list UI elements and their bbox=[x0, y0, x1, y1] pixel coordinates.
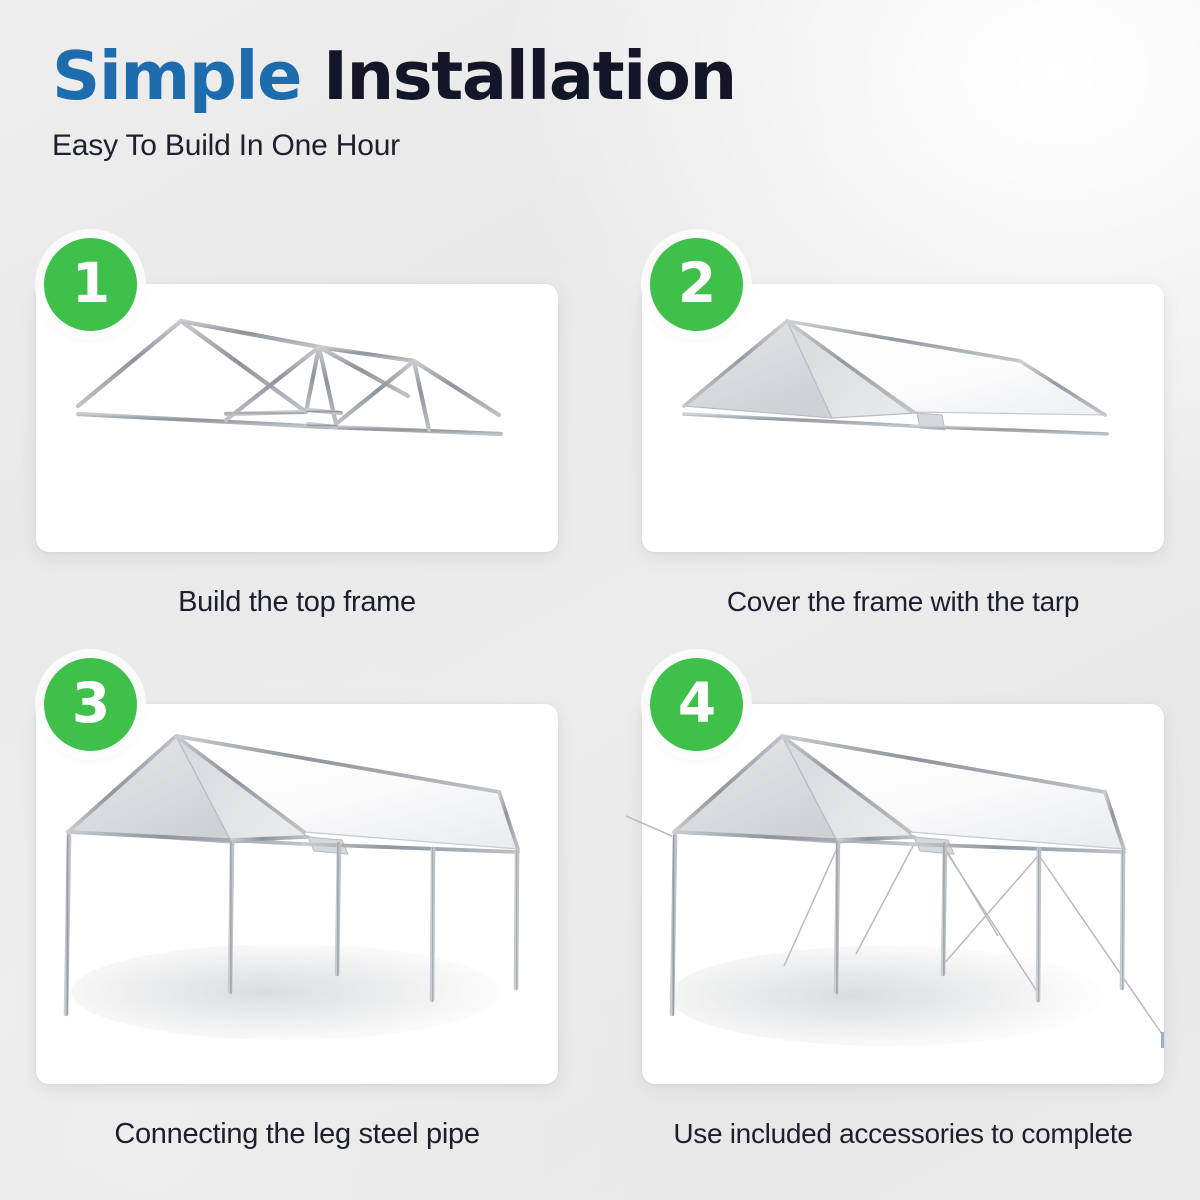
step-badge-3: 3 bbox=[44, 658, 137, 751]
step-number-1: 1 bbox=[72, 256, 109, 311]
step-caption-1: Build the top frame bbox=[36, 586, 558, 619]
step-card-2: 2 Cover the frame with the tarp bbox=[642, 284, 1164, 684]
title-word-installation: Installation bbox=[323, 37, 736, 115]
step-caption-3: Connecting the leg steel pipe bbox=[36, 1118, 558, 1151]
step-1-card-surface: 1 bbox=[36, 284, 558, 552]
steps-grid: 1 Build the top frame bbox=[0, 252, 1200, 1182]
carport-with-legs-illustration bbox=[36, 704, 558, 1084]
step-number-4: 4 bbox=[678, 676, 715, 731]
infographic-page: Simple Installation Easy To Build In One… bbox=[0, 0, 1200, 1200]
page-subtitle: Easy To Build In One Hour bbox=[52, 129, 1152, 163]
ground-anchor-icon bbox=[1161, 1032, 1164, 1048]
step-number-2: 2 bbox=[678, 256, 715, 311]
step-badge-2: 2 bbox=[650, 238, 743, 331]
header: Simple Installation Easy To Build In One… bbox=[52, 42, 1152, 163]
carport-with-guylines-illustration bbox=[642, 704, 1164, 1084]
step-number-3: 3 bbox=[72, 676, 109, 731]
step-card-1: 1 Build the top frame bbox=[36, 284, 558, 684]
step-caption-4: Use included accessories to complete bbox=[642, 1118, 1164, 1150]
step-card-3: 3 Connecting the leg steel pipe bbox=[36, 704, 558, 1104]
step-2-card-surface: 2 bbox=[642, 284, 1164, 552]
step-caption-2: Cover the frame with the tarp bbox=[642, 586, 1164, 618]
step-4-card-surface: 4 bbox=[642, 704, 1164, 1084]
step-badge-4: 4 bbox=[650, 658, 743, 751]
title-word-simple: Simple bbox=[52, 37, 301, 115]
page-title: Simple Installation bbox=[52, 42, 1152, 110]
step-card-4: 4 Use included accessories to complete bbox=[642, 704, 1164, 1104]
step-3-card-surface: 3 bbox=[36, 704, 558, 1084]
step-badge-1: 1 bbox=[44, 238, 137, 331]
